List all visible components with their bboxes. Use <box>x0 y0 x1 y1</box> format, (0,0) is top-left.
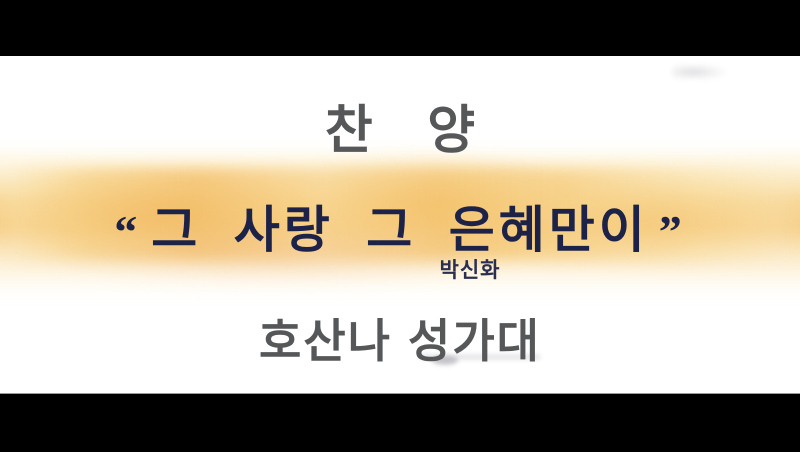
choir-name-part-1: 호산나 <box>259 315 392 367</box>
slide-stage: 찬 양 “그 사랑 그 은혜만이” 박신화 호산나성가대 <box>0 56 800 394</box>
choir-name-part-2: 성가대 <box>408 315 541 367</box>
choir-name-line: 호산나성가대 <box>0 305 800 371</box>
composer-credit: 박신화 <box>0 254 800 284</box>
song-title-line: “그 사랑 그 은혜만이” <box>0 190 800 262</box>
open-quote-mark: “ <box>114 206 141 257</box>
video-title-slide: 찬 양 “그 사랑 그 은혜만이” 박신화 호산나성가대 <box>0 0 800 452</box>
letterbox-bar-top <box>0 0 800 56</box>
frame-artifact-top-right <box>672 64 726 80</box>
song-title-text: 그 사랑 그 은혜만이 <box>141 202 659 258</box>
letterbox-bar-bottom <box>0 394 800 452</box>
close-quote-mark: ” <box>659 206 686 257</box>
program-heading: 찬 양 <box>0 88 800 163</box>
